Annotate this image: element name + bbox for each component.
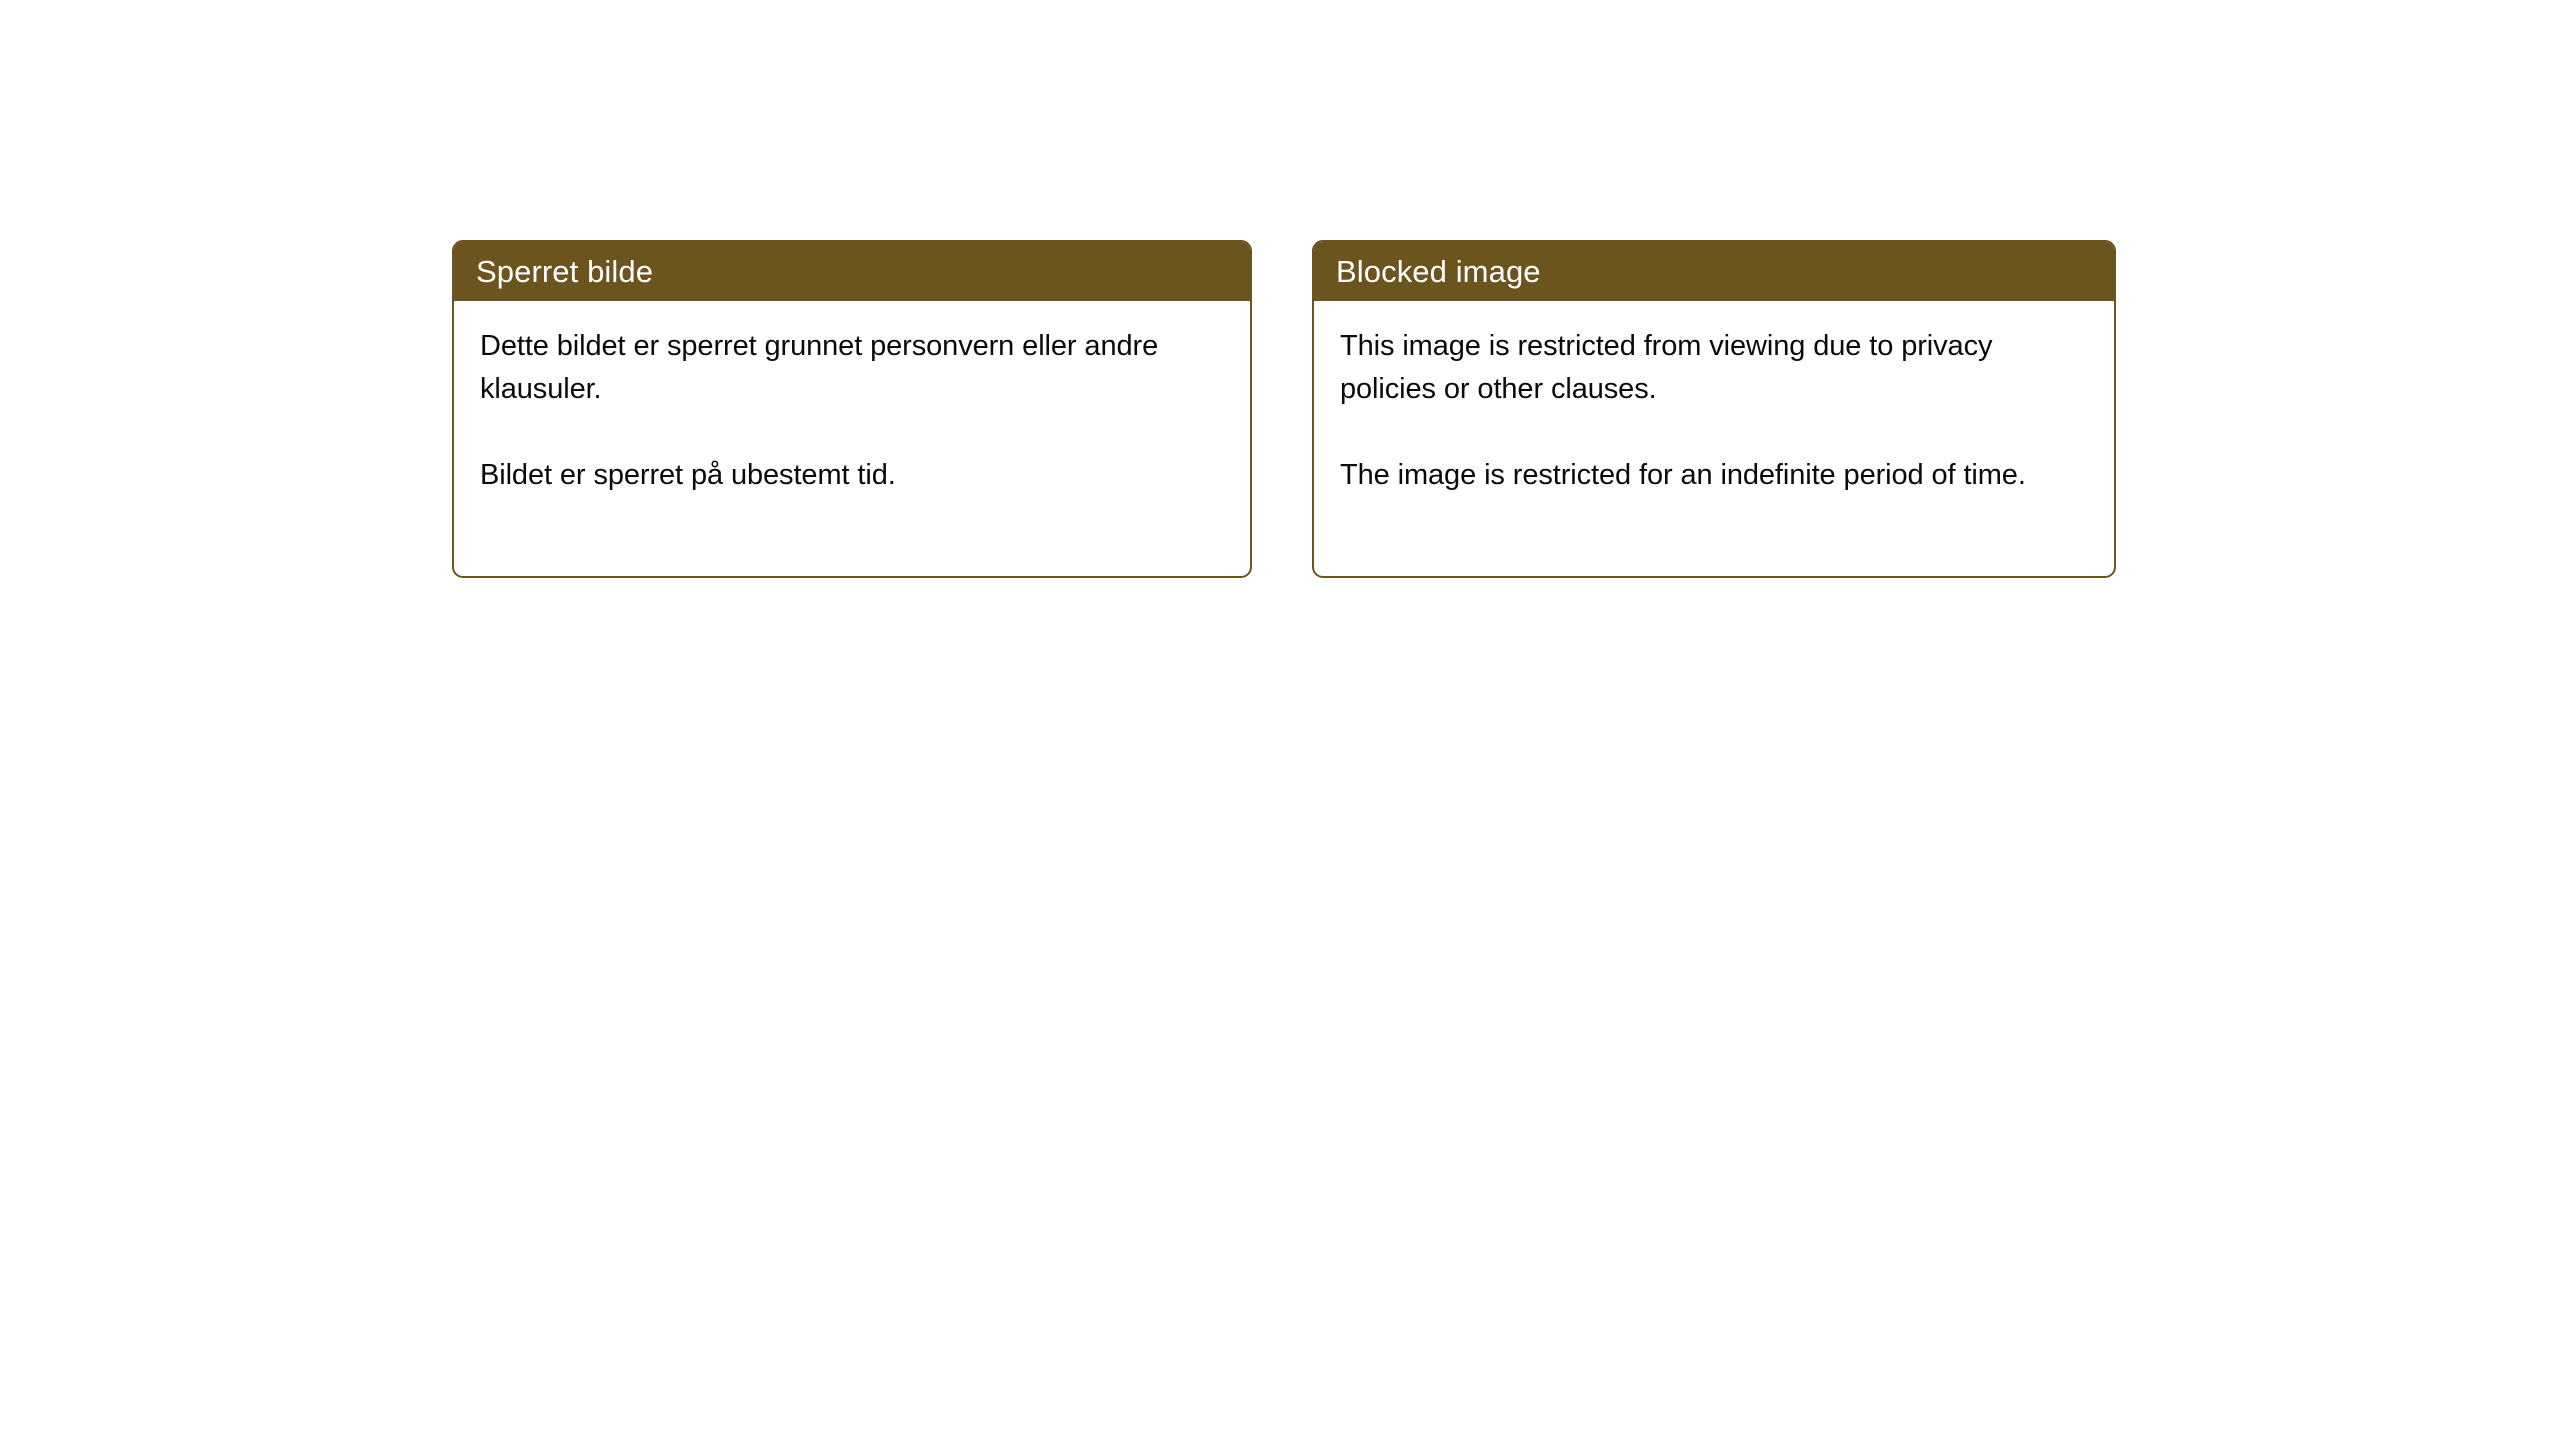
panel-title-english: Blocked image — [1336, 256, 1541, 287]
panel-paragraph-duration-english: The image is restricted for an indefinit… — [1340, 454, 2080, 497]
blocked-image-notice-english: Blocked image This image is restricted f… — [1312, 240, 2116, 578]
panel-body-norwegian: Dette bildet er sperret grunnet personve… — [454, 301, 1250, 497]
page-canvas: Sperret bilde Dette bildet er sperret gr… — [0, 0, 2560, 1440]
panel-title-norwegian: Sperret bilde — [476, 256, 653, 287]
panel-header-norwegian: Sperret bilde — [453, 241, 1251, 301]
panel-header-english: Blocked image — [1313, 241, 2115, 301]
panel-paragraph-reason-english: This image is restricted from viewing du… — [1340, 325, 2080, 411]
panel-paragraph-duration-norwegian: Bildet er sperret på ubestemt tid. — [480, 454, 1220, 497]
panel-paragraph-reason-norwegian: Dette bildet er sperret grunnet personve… — [480, 325, 1220, 411]
panel-body-english: This image is restricted from viewing du… — [1314, 301, 2114, 497]
blocked-image-notice-norwegian: Sperret bilde Dette bildet er sperret gr… — [452, 240, 1252, 578]
